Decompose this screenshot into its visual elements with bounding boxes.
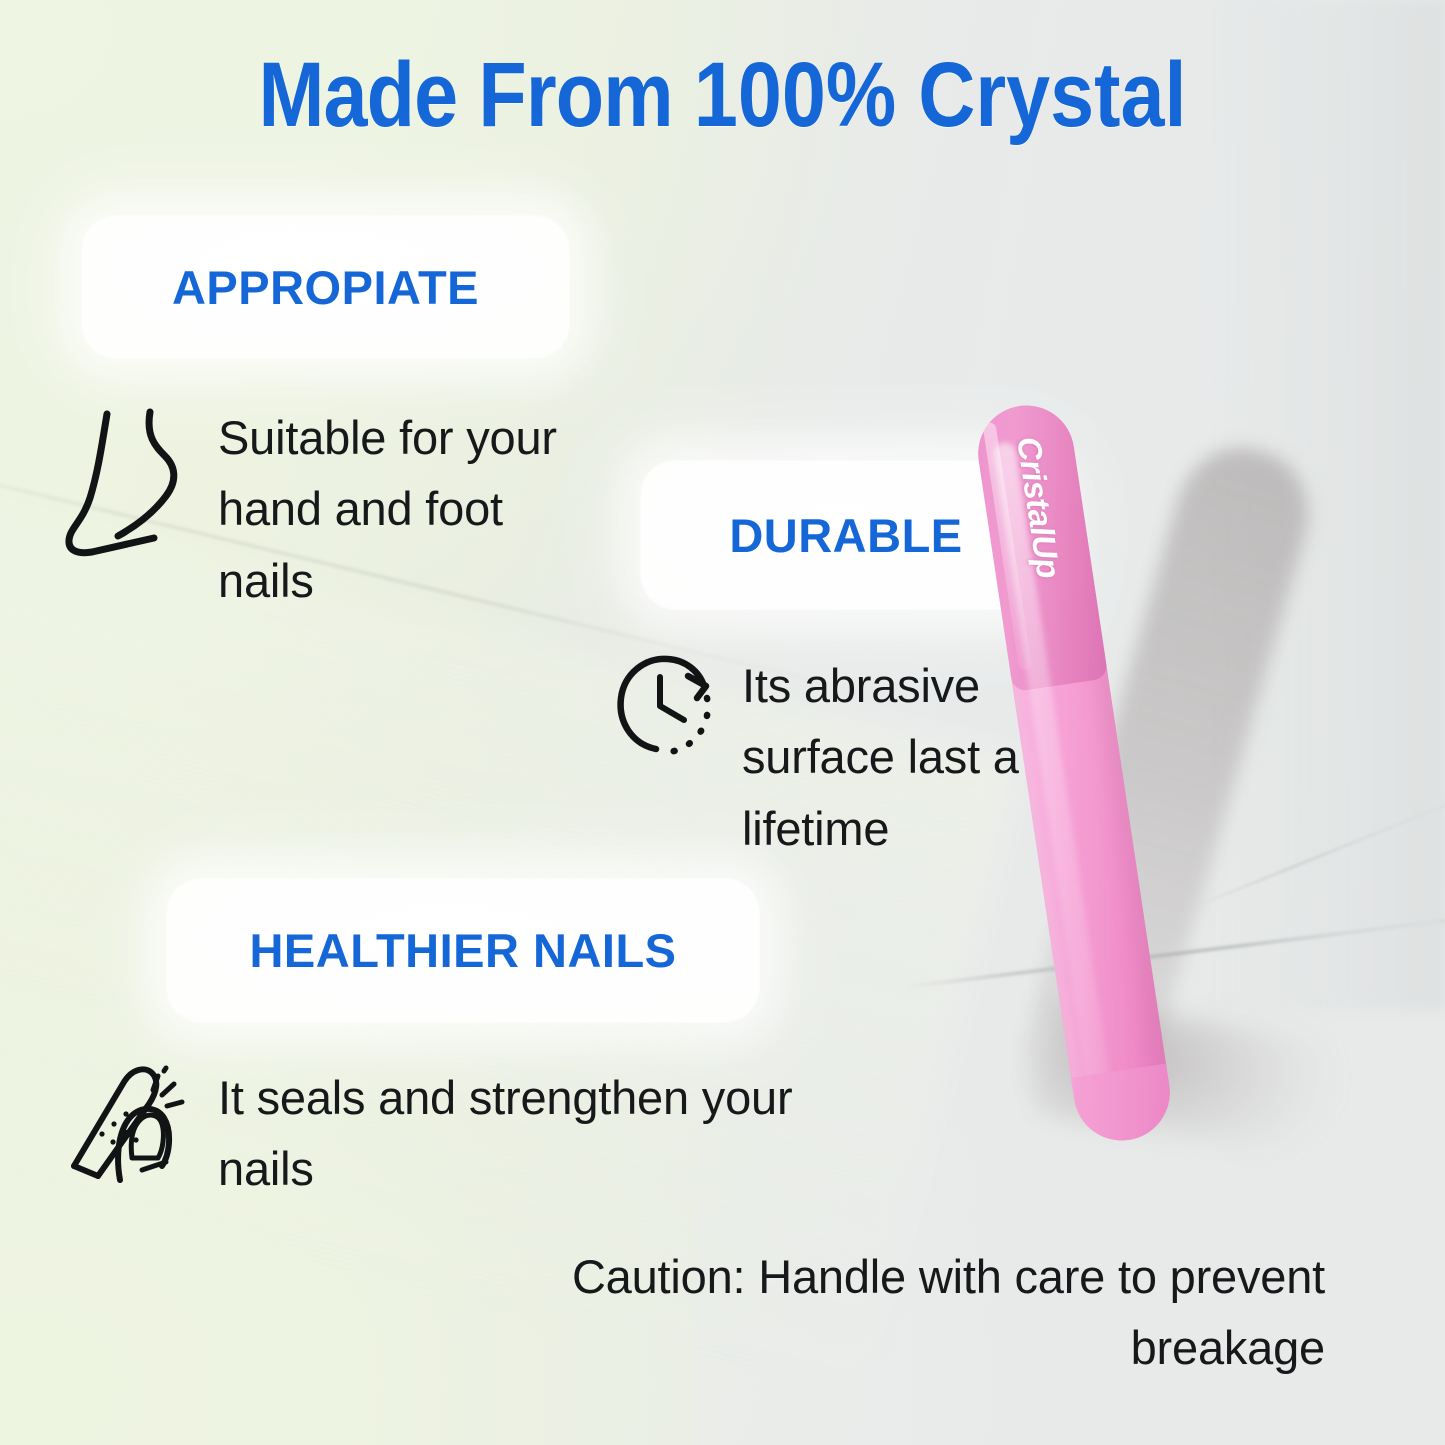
foot-icon	[62, 402, 194, 567]
caution-note: Caution: Handle with care to prevent bre…	[565, 1242, 1325, 1383]
clock-icon	[612, 650, 720, 767]
badge-healthier-nails: HEALTHIER NAILS	[167, 879, 759, 1022]
badge-healthier-nails-label: HEALTHIER NAILS	[249, 923, 676, 978]
product-tip	[1071, 1064, 1176, 1147]
feature-suitable-for-nails: Suitable for your hand and foot nails	[62, 402, 602, 616]
infographic-canvas: Made From 100% Crystal APPROPIATE DURABL…	[0, 0, 1445, 1445]
product-nail-file: CristalUp	[930, 380, 1400, 1180]
page-title: Made From 100% Crystal	[101, 48, 1344, 144]
title-part-light: Made From	[258, 44, 693, 146]
nail-file-icon	[62, 1062, 192, 1189]
badge-durable-label: DURABLE	[729, 508, 962, 563]
badge-appropriate-label: APPROPIATE	[172, 260, 479, 315]
badge-appropriate: APPROPIATE	[82, 216, 569, 358]
title-part-bold: 100% Crystal	[694, 44, 1187, 146]
feature-suitable-text: Suitable for your hand and foot nails	[218, 402, 588, 616]
feature-seals-text: It seals and strengthen your nails	[218, 1062, 858, 1205]
feature-seals-strengthen: It seals and strengthen your nails	[62, 1062, 862, 1205]
